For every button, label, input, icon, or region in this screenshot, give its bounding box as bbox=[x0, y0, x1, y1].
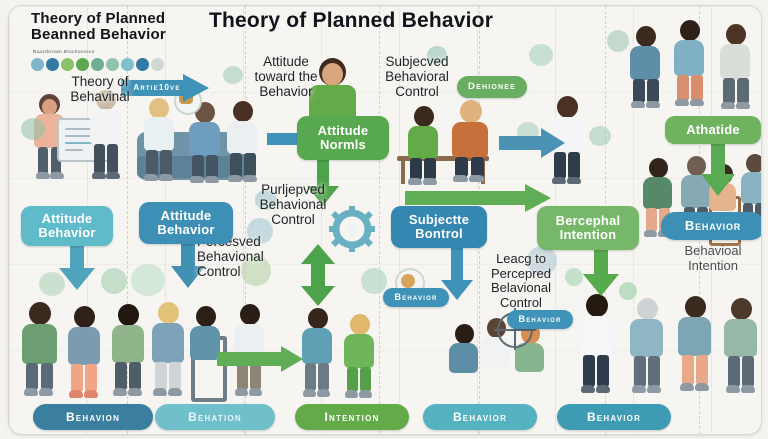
attitude-norms-box[interactable]: Attitude Normls bbox=[297, 116, 389, 160]
legend-dot bbox=[151, 58, 164, 71]
card-title-line2: Beanned Behavior bbox=[31, 26, 166, 43]
bottom-pill-behavior-1[interactable]: Behavior bbox=[423, 404, 537, 430]
page-title: Theory of Planned Behavior bbox=[209, 9, 493, 33]
doodle-icon bbox=[589, 126, 611, 146]
legend-dot bbox=[106, 58, 119, 71]
legend-dot bbox=[136, 58, 149, 71]
illustration-figure bbox=[149, 302, 191, 398]
behavior-badge-2[interactable]: Behavior bbox=[507, 310, 573, 329]
theory-of-behavinal-label: Theory of Behavinal bbox=[45, 74, 155, 104]
illustration-figure bbox=[671, 20, 711, 110]
doodle-icon bbox=[619, 282, 637, 300]
dehionee-badge[interactable]: Dehionee bbox=[457, 76, 527, 98]
doodle-icon bbox=[131, 264, 165, 296]
legend-caption: Raastbrown Bluchonoicn bbox=[33, 49, 95, 54]
illustration-figure bbox=[449, 100, 495, 186]
illustration-figure bbox=[675, 296, 717, 398]
illustration-figure bbox=[627, 298, 669, 398]
avatar-badge-inner bbox=[401, 274, 415, 288]
illustration-figure bbox=[109, 304, 151, 398]
attitude-toward-behavior-label: Attitude toward the Behavior bbox=[231, 54, 341, 99]
doodle-icon bbox=[529, 44, 553, 66]
behavior-right-box[interactable]: Behavior bbox=[661, 212, 762, 240]
illustration-figure bbox=[717, 24, 757, 112]
legend-dots bbox=[31, 58, 164, 71]
screenshot-canvas: Artie10ve bbox=[0, 0, 768, 439]
attitude-behavior-left-box[interactable]: Attitude Behavior bbox=[21, 206, 113, 246]
leacg-to-percepred-label: Leacg to Percepred Belavional Control bbox=[469, 252, 573, 310]
subjectte-bontrol-box[interactable]: Subjectte Bontrol bbox=[391, 206, 487, 248]
bottom-pill-behavior-2[interactable]: Behavior bbox=[557, 404, 671, 430]
illustration-figure bbox=[627, 26, 667, 110]
legend-dot bbox=[91, 58, 104, 71]
bercephal-intention-box[interactable]: Bercephal Intention bbox=[537, 206, 639, 250]
bottom-pill-intention[interactable]: Intention bbox=[295, 404, 409, 430]
illustration-figure bbox=[19, 302, 63, 398]
illustration-figure bbox=[299, 308, 339, 398]
athatide-box[interactable]: Athatide bbox=[665, 116, 761, 144]
attitude-behavior-mid-box[interactable]: Attitude Behavior bbox=[139, 202, 233, 244]
doodle-icon bbox=[361, 268, 387, 294]
card-title-line1: Theory of Planned bbox=[31, 10, 165, 27]
legend-dot bbox=[76, 58, 89, 71]
purljepved-behavional-control-label: Purljepved Behavional Control bbox=[237, 182, 349, 227]
doodle-icon bbox=[101, 268, 127, 294]
bottom-pill-behation[interactable]: Behation bbox=[155, 404, 275, 430]
illustration-figure bbox=[341, 314, 381, 398]
arrow-right-mid bbox=[499, 128, 565, 158]
illustration-figure bbox=[65, 306, 107, 398]
legend-dot bbox=[61, 58, 74, 71]
legend-dot bbox=[31, 58, 44, 71]
illustration-figure bbox=[141, 98, 181, 182]
illustration-figure bbox=[405, 106, 445, 186]
doodle-icon bbox=[21, 118, 45, 140]
subjecved-behavioral-control-label: Subjecved Behavioral Control bbox=[363, 54, 471, 99]
behavior-badge-1[interactable]: Behavior bbox=[383, 288, 449, 307]
doodle-icon bbox=[607, 30, 629, 52]
bottom-pill-behavion[interactable]: Behavion bbox=[33, 404, 153, 430]
arrow-right-green-row2 bbox=[217, 346, 303, 372]
legend-dot bbox=[46, 58, 59, 71]
illustration-figure bbox=[575, 294, 619, 398]
infographic-paper: Artie10ve bbox=[8, 5, 762, 435]
legend-dot bbox=[121, 58, 134, 71]
illustration-figure bbox=[721, 298, 762, 398]
illustration-figure bbox=[224, 101, 264, 181]
arrow-down-athatide bbox=[701, 142, 735, 196]
behavioal-intention-label: Behavioal Intention bbox=[661, 244, 762, 273]
